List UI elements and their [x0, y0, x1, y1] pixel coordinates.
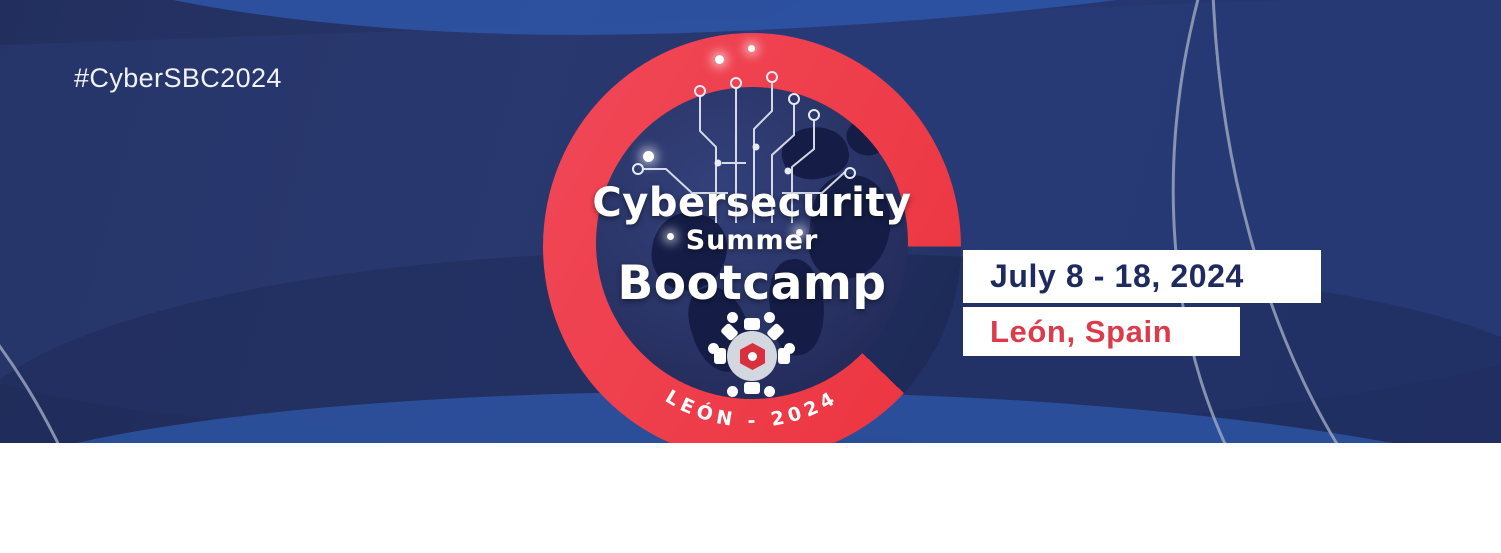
event-hashtag: #CyberSBC2024	[74, 63, 282, 94]
event-place-chip: León, Spain	[963, 307, 1240, 356]
footer-sponsors: Organized by: With the collaboration of:…	[0, 443, 1501, 553]
arc-text-label: LEÓN - 2024	[661, 386, 842, 432]
event-banner: #CyberSBC2024	[0, 0, 1501, 553]
event-date-chip: July 8 - 18, 2024	[963, 250, 1321, 303]
logo-arc-text: LEÓN - 2024	[543, 33, 961, 443]
hero-section: #CyberSBC2024	[0, 0, 1501, 443]
event-date-label: July 8 - 18, 2024	[963, 258, 1244, 295]
event-place-label: León, Spain	[963, 314, 1172, 350]
event-logo: Cybersecurity Summer Bootcamp	[543, 33, 961, 443]
